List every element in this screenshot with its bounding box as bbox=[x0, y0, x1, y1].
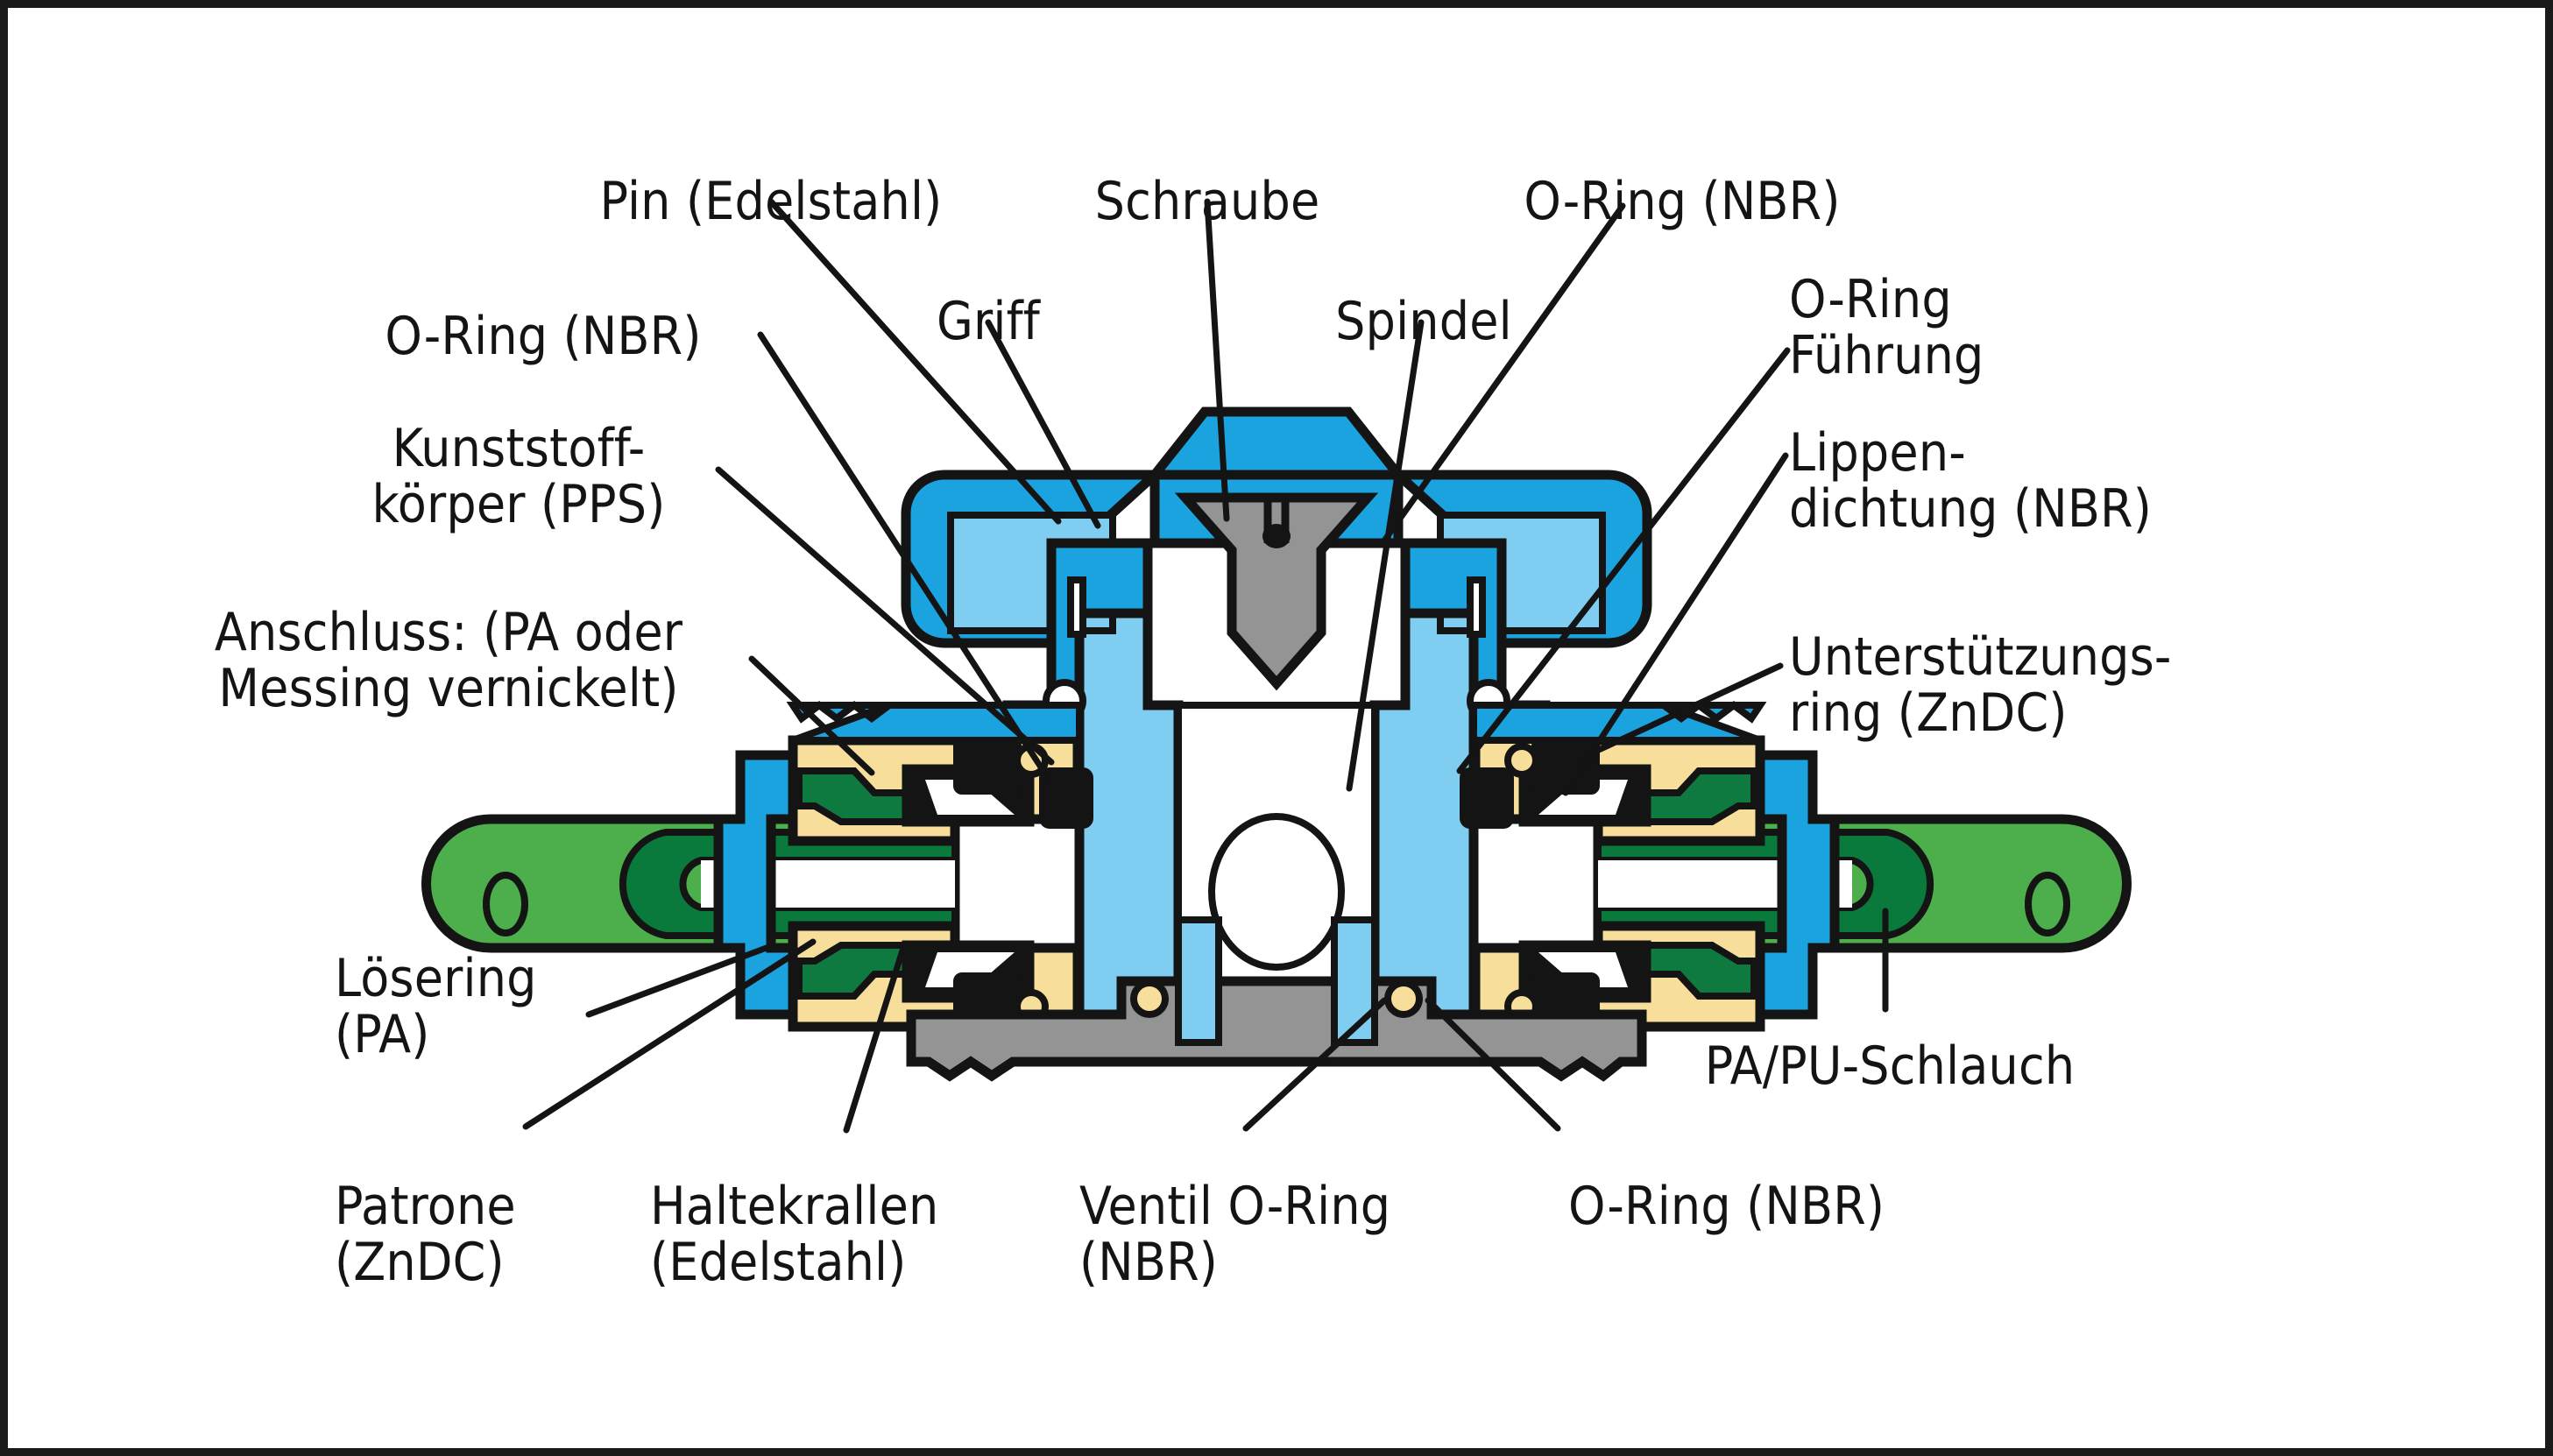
leader-patrone bbox=[526, 942, 813, 1127]
label-o-ring-fuehrung: O-RingFührung bbox=[1789, 272, 1984, 384]
lip-seal-left bbox=[957, 740, 1018, 1027]
label-line: PA/PU-Schlauch bbox=[1705, 1038, 2076, 1094]
label-line: O-Ring (NBR) bbox=[1568, 1178, 1885, 1234]
label-line: Lösering bbox=[335, 951, 537, 1007]
label-spindel: Spindel bbox=[1335, 293, 1512, 350]
label-haltekrallen: Haltekrallen(Edelstahl) bbox=[650, 1178, 938, 1290]
label-ventil-o-ring: Ventil O-Ring(NBR) bbox=[1079, 1178, 1390, 1290]
label-line: Lippen- bbox=[1789, 425, 2152, 481]
label-line: Pin (Edelstahl) bbox=[600, 173, 943, 230]
label-line: (ZnDC) bbox=[335, 1234, 516, 1290]
label-kunststoffkoerper: Kunststoff-körper (PPS) bbox=[371, 421, 665, 533]
label-line: Unterstützungs- bbox=[1789, 629, 2172, 685]
label-line: Haltekrallen bbox=[650, 1178, 938, 1234]
label-line: Kunststoff- bbox=[371, 421, 665, 477]
diagram-root: .ol { stroke:#141414; stroke-width:11; s… bbox=[0, 0, 2553, 1456]
label-line: O-Ring (NBR) bbox=[1524, 173, 1840, 230]
label-line: O-Ring bbox=[1789, 272, 1984, 328]
screw-schraube bbox=[1185, 498, 1368, 683]
label-line: Schraube bbox=[1095, 173, 1320, 230]
label-line: Anschluss: (PA oder bbox=[215, 604, 682, 661]
label-patrone: Patrone(ZnDC) bbox=[335, 1178, 516, 1290]
label-line: körper (PPS) bbox=[371, 477, 665, 533]
label-pin: Pin (Edelstahl) bbox=[600, 173, 943, 230]
label-line: Ventil O-Ring bbox=[1079, 1178, 1390, 1234]
lip-seal-right bbox=[1535, 740, 1596, 1027]
label-lippendichtung: Lippen-dichtung (NBR) bbox=[1789, 425, 2152, 537]
label-line: ring (ZnDC) bbox=[1789, 685, 2172, 741]
label-o-ring-top-right: O-Ring (NBR) bbox=[1524, 173, 1840, 230]
label-anschluss: Anschluss: (PA oderMessing vernickelt) bbox=[215, 604, 682, 717]
label-pa-pu-schlauch: PA/PU-Schlauch bbox=[1705, 1038, 2076, 1094]
label-o-ring-bottom: O-Ring (NBR) bbox=[1568, 1178, 1885, 1234]
leader-pin bbox=[771, 201, 1058, 521]
label-line: Spindel bbox=[1335, 293, 1512, 350]
label-line: dichtung (NBR) bbox=[1789, 481, 2152, 537]
label-line: (NBR) bbox=[1079, 1234, 1390, 1290]
label-line: Führung bbox=[1789, 328, 1984, 384]
label-line: (PA) bbox=[335, 1007, 537, 1063]
label-loesering: Lösering(PA) bbox=[335, 951, 537, 1063]
label-o-ring-top-left: O-Ring (NBR) bbox=[385, 308, 701, 364]
label-unterstuetzungsring: Unterstützungs-ring (ZnDC) bbox=[1789, 629, 2172, 741]
label-line: Griff bbox=[937, 293, 1040, 350]
label-line: Messing vernickelt) bbox=[215, 661, 682, 717]
label-line: (Edelstahl) bbox=[650, 1234, 938, 1290]
label-griff: Griff bbox=[937, 293, 1040, 350]
label-line: Patrone bbox=[335, 1178, 516, 1234]
label-schraube: Schraube bbox=[1095, 173, 1320, 230]
label-line: O-Ring (NBR) bbox=[385, 308, 701, 364]
